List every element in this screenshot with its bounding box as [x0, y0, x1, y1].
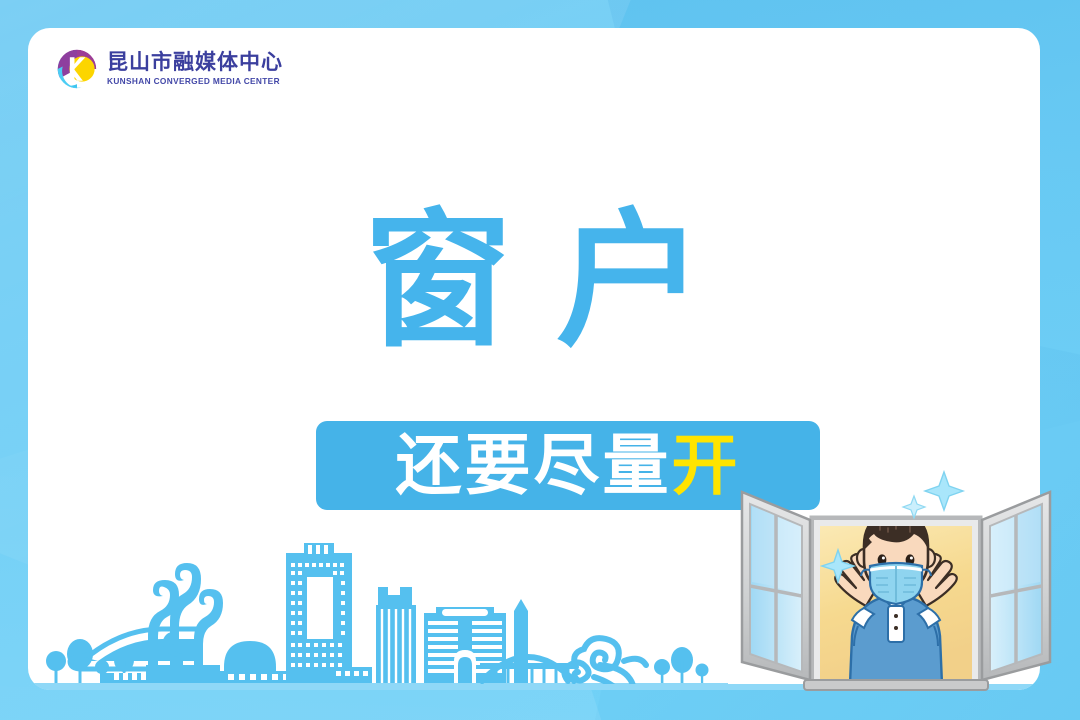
brand-logo: 昆山市融媒体中心 KUNSHAN CONVERGED MEDIA CENTER [56, 48, 283, 90]
headline-title: 窗户 [28, 206, 1040, 354]
subtitle-text-accent: 开 [672, 427, 741, 504]
brand-logo-text: 昆山市融媒体中心 KUNSHAN CONVERGED MEDIA CENTER [107, 52, 283, 87]
kunshan-media-circle-logo-icon [56, 48, 98, 90]
subtitle-banner-text: 还要尽量开 [396, 433, 741, 499]
sparkle-icons [903, 472, 963, 518]
brand-name-chinese: 昆山市融媒体中心 [107, 52, 283, 74]
brand-name-english: KUNSHAN CONVERGED MEDIA CENTER [107, 76, 283, 87]
subtitle-text-main: 还要尽量 [396, 427, 672, 504]
open-window-with-masked-boy-illustration [738, 466, 1054, 700]
kunshan-city-skyline-silhouette [28, 515, 728, 690]
